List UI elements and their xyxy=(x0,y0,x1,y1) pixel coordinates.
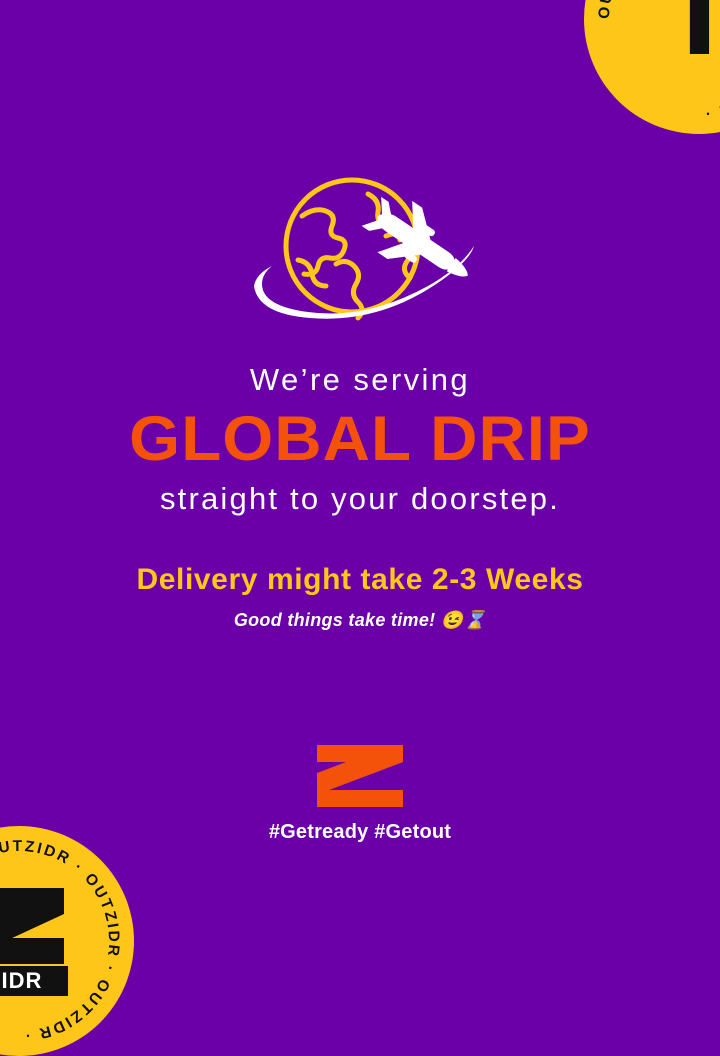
delivery-note: Good things take time! 😉⌛ xyxy=(0,610,720,631)
hashtags: #Getready #Getout xyxy=(0,821,720,844)
badge-z-icon xyxy=(0,888,64,964)
hero-illustration xyxy=(0,168,720,338)
brand-badge-bottom-left: OUTZIDR · OUTZIDR · OUTZIDR · OUTZIDR · … xyxy=(0,826,134,1056)
subheadline: straight to your doorstep. xyxy=(0,480,720,517)
headline: GLOBAL DRIP xyxy=(0,404,720,475)
airplane-icon xyxy=(354,185,485,301)
delivery-notice: Delivery might take 2-3 Weeks xyxy=(0,563,720,597)
z-logo-mark xyxy=(317,745,403,807)
serving-line: We’re serving xyxy=(0,362,720,399)
footer-brand: #Getready #Getout xyxy=(0,745,720,844)
badge-letter: N xyxy=(680,0,720,86)
badge-wordmark: OUTZIDR xyxy=(0,968,42,993)
brand-badge-top-right: OUTZIDR · OUTZIDR · OUTZIDR · OUTZIDR · … xyxy=(584,0,720,134)
copy-block: We’re serving GLOBAL DRIP straight to yo… xyxy=(0,362,720,631)
